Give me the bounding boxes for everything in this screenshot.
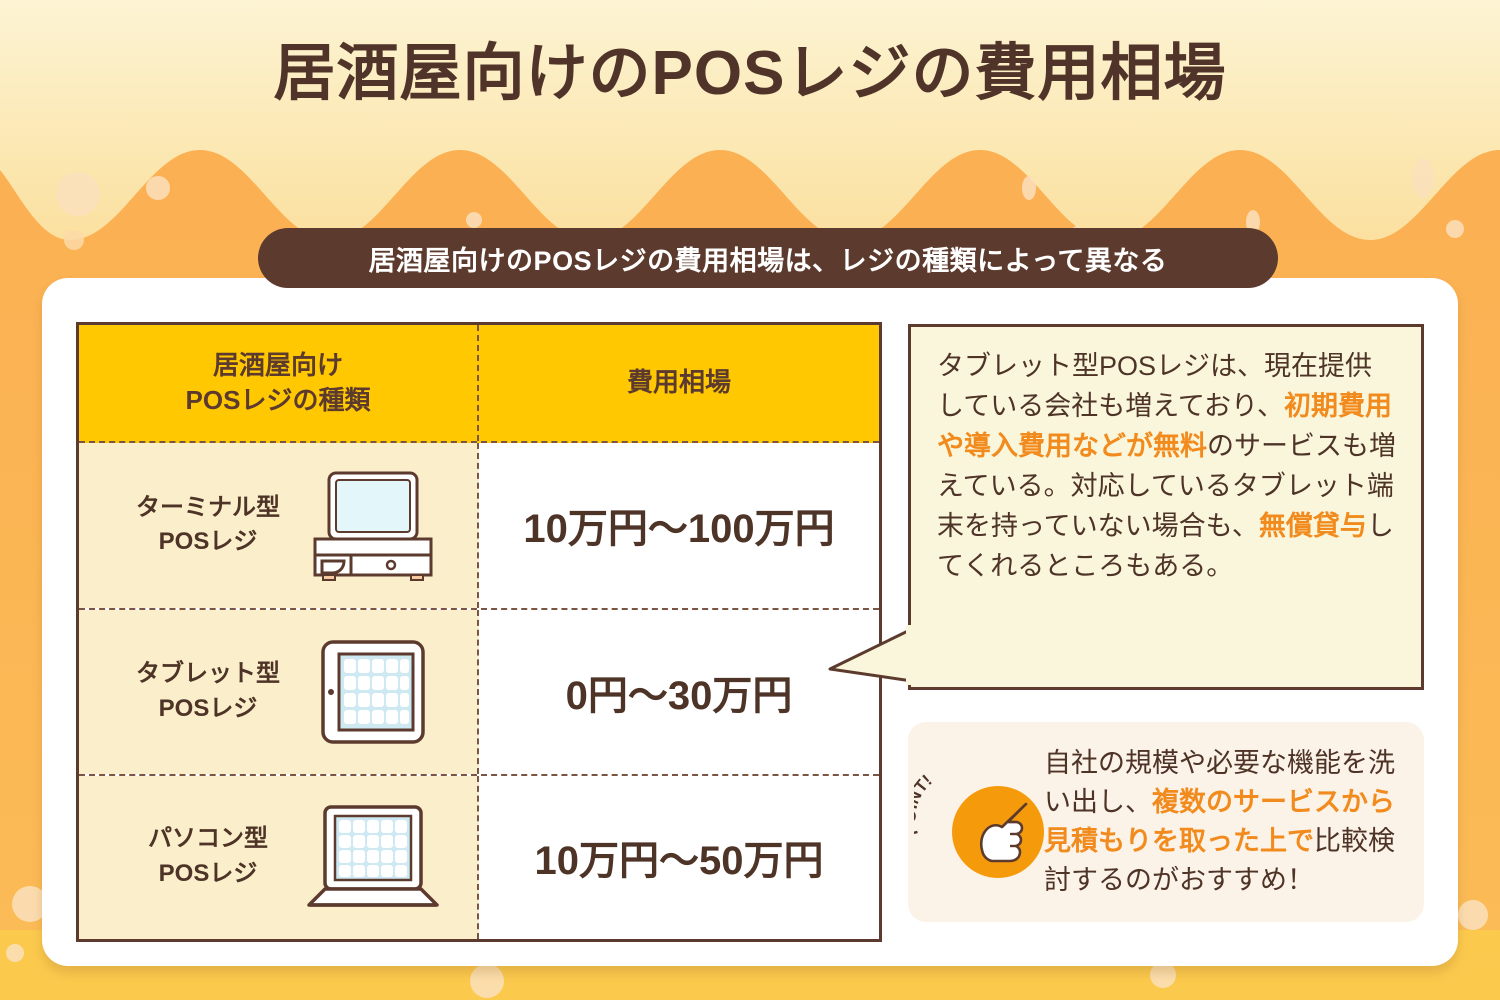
highlighted-text: 無償貸与 <box>1259 511 1367 541</box>
table-row: ターミナル型 POSレジ 10万円〜100万円 <box>79 443 879 608</box>
row-type-line1: パソコン型 <box>113 822 303 857</box>
header-type-line2: POSレジの種類 <box>186 383 371 418</box>
subtitle-text: 居酒屋向けのPOSレジの費用相場は、レジの種類によって異なる <box>369 239 1168 278</box>
foam-bubble <box>466 212 482 228</box>
price-value: 10万円〜50万円 <box>535 828 824 886</box>
row-type-line1: タブレット型 <box>113 657 303 692</box>
header-cell-type: 居酒屋向け POSレジの種類 <box>79 325 479 441</box>
foam-bubble <box>1458 900 1488 930</box>
price-comparison-table: 居酒屋向け POSレジの種類 費用相場 ターミナル型 POSレジ <box>76 322 882 942</box>
table-header-row: 居酒屋向け POSレジの種類 費用相場 <box>79 325 879 443</box>
row-cell-price: 10万円〜50万円 <box>479 776 879 939</box>
row-cell-type: ターミナル型 POSレジ <box>79 443 479 608</box>
callout-tail-icon <box>828 625 912 685</box>
page-title: 居酒屋向けのPOSレジの費用相場 <box>0 40 1500 108</box>
foam-bubble <box>1412 158 1434 198</box>
tablet-pos-callout: タブレット型POSレジは、現在提供している会社も増えており、初期費用や導入費用な… <box>908 324 1424 690</box>
pointing-hand-icon <box>964 794 1040 870</box>
row-cell-price: 0円〜30万円 <box>479 610 879 773</box>
foam-bubble <box>1446 220 1464 238</box>
header-price-label: 費用相場 <box>627 365 731 400</box>
laptop-pos-icon <box>303 801 443 913</box>
subtitle-banner: 居酒屋向けのPOSレジの費用相場は、レジの種類によって異なる <box>258 228 1278 288</box>
page-title-container: 居酒屋向けのPOSレジの費用相場 <box>0 40 1500 108</box>
header-cell-price: 費用相場 <box>479 325 879 441</box>
point-label-text: POINT! <box>914 771 936 838</box>
foam-bubble <box>1022 176 1036 200</box>
price-value: 0円〜30万円 <box>566 663 793 721</box>
svg-text:POINT!: POINT! <box>914 771 936 838</box>
row-type-line2: POSレジ <box>113 692 303 727</box>
foam-bubble <box>6 944 24 962</box>
table-row: パソコン型 POSレジ <box>79 774 879 939</box>
foam-bubble <box>146 176 170 200</box>
point-text: 自社の規模や必要な機能を洗い出し、複数のサービスから見積もりを取った上で比較検討… <box>1044 744 1424 901</box>
row-cell-type: パソコン型 POSレジ <box>79 776 479 939</box>
terminal-pos-icon <box>303 469 443 581</box>
row-type-line1: ターミナル型 <box>113 491 303 526</box>
foam-bubble <box>64 230 84 250</box>
callout-text: タブレット型POSレジは、現在提供している会社も増えており、初期費用や導入費用な… <box>937 347 1399 587</box>
row-type-line2: POSレジ <box>113 857 303 892</box>
foam-bubble <box>56 172 100 216</box>
header-type-line1: 居酒屋向け <box>186 348 371 383</box>
point-advice-box: POINT! 自社の規模や必要な機能を洗い出し、複数のサービスから見積もりを取っ… <box>908 722 1424 922</box>
row-cell-price: 10万円〜100万円 <box>479 443 879 608</box>
price-value: 10万円〜100万円 <box>523 496 834 554</box>
table-row: タブレット型 POSレジ <box>79 608 879 773</box>
row-cell-type: タブレット型 POSレジ <box>79 610 479 773</box>
row-type-line2: POSレジ <box>113 525 303 560</box>
tablet-pos-icon <box>303 636 443 748</box>
foam-bubble <box>470 964 504 998</box>
point-badge: POINT! <box>908 742 1044 902</box>
